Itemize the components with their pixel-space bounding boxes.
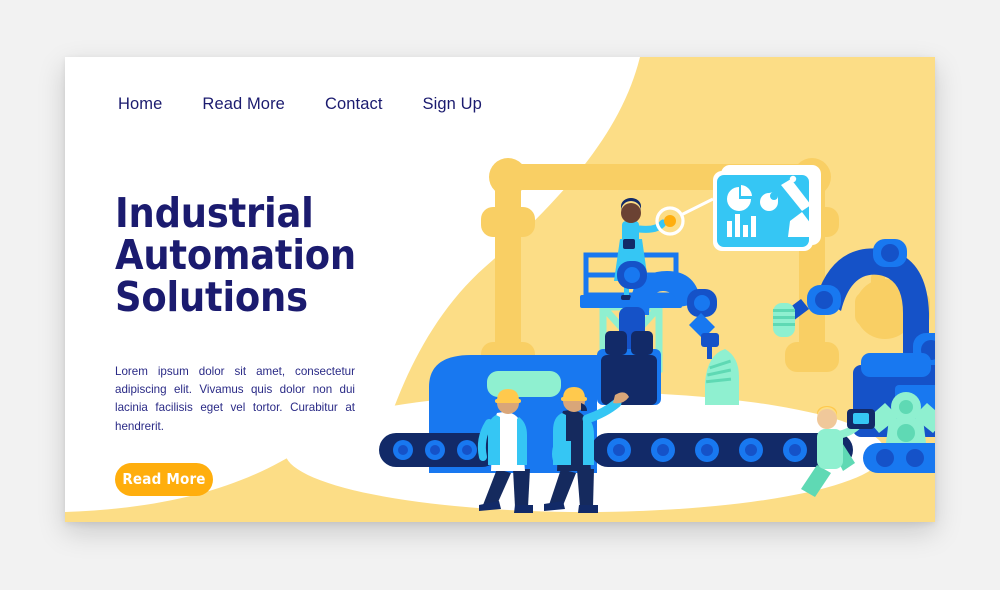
conveyor-segment-right: [863, 443, 935, 473]
nav-link-contact[interactable]: Contact: [325, 95, 383, 114]
screenshot-stage: Home Read More Contact Sign Up Industria…: [0, 0, 1000, 590]
conveyor-segment-center: [591, 433, 853, 467]
page-title-line-2: Automation Solutions: [115, 234, 475, 318]
read-more-button[interactable]: Read More: [115, 463, 213, 496]
nav-item-read-more[interactable]: Read More: [202, 95, 285, 114]
housing-display: [487, 371, 561, 397]
nav-item-contact[interactable]: Contact: [325, 95, 383, 114]
nav-link-home[interactable]: Home: [118, 95, 162, 114]
hero-content: Industrial Automation Solutions Lorem ip…: [115, 192, 475, 496]
landing-page-card: Home Read More Contact Sign Up Industria…: [65, 57, 935, 522]
nav-item-home[interactable]: Home: [118, 95, 162, 114]
hologram-control: [657, 199, 713, 234]
main-navigation: Home Read More Contact Sign Up: [118, 95, 482, 114]
nav-link-sign-up[interactable]: Sign Up: [423, 95, 482, 114]
page-title: Industrial Automation Solutions: [115, 192, 475, 319]
hero-paragraph: Lorem ipsum dolor sit amet, consectetur …: [115, 363, 355, 436]
nav-item-sign-up[interactable]: Sign Up: [423, 95, 482, 114]
page-title-line-1: Industrial: [115, 189, 314, 237]
operator-head: [621, 203, 641, 223]
nav-link-read-more[interactable]: Read More: [202, 95, 285, 114]
robot-gripper-left-hand: [773, 299, 809, 337]
dashboard-screen[interactable]: [713, 165, 821, 251]
